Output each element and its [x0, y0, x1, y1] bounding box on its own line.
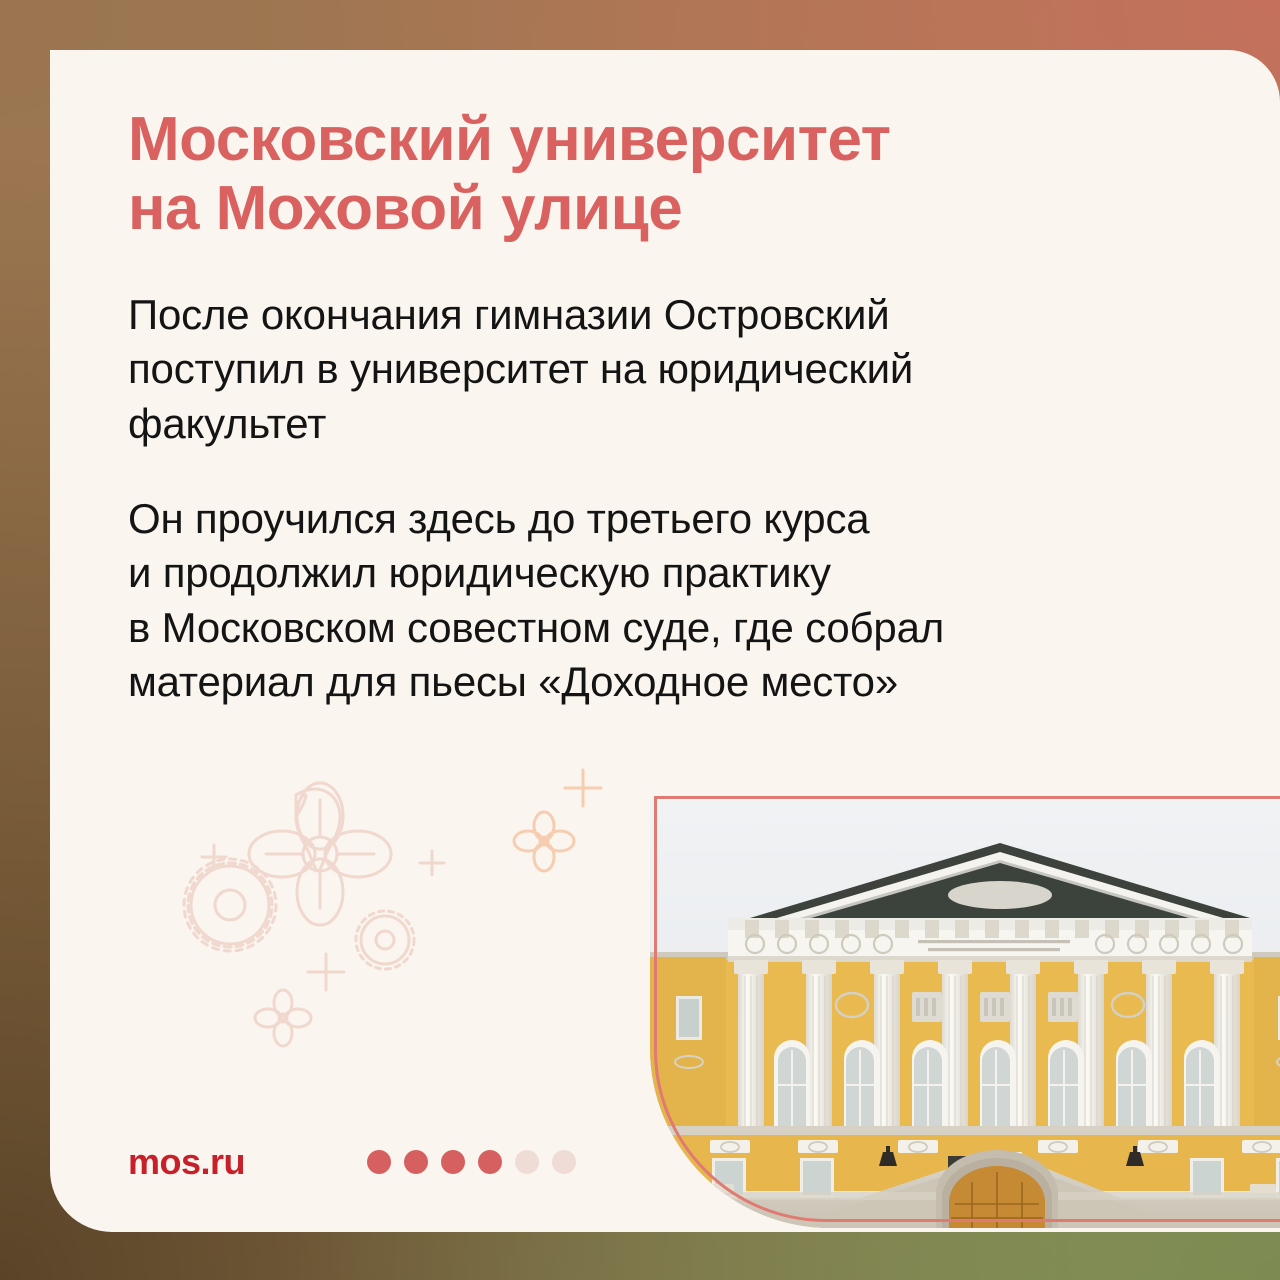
info-card: Московский университет на Моховой улице …	[50, 50, 1280, 1232]
gear-small-icon	[356, 911, 414, 969]
small-flower-2-icon	[514, 812, 574, 871]
large-flower-icon	[249, 783, 391, 925]
pagination-dot-2[interactable]	[404, 1150, 428, 1174]
small-flower-1-icon	[255, 990, 311, 1046]
paragraph-2: Он проучился здесь до третьего курса и п…	[128, 492, 1138, 710]
pagination-dot-5[interactable]	[515, 1150, 539, 1174]
card-footer: mos.ru	[128, 1132, 648, 1192]
cross-4-icon	[565, 770, 601, 806]
pagination-dot-6[interactable]	[552, 1150, 576, 1174]
pagination-dot-4[interactable]	[478, 1150, 502, 1174]
cross-2-icon	[420, 851, 444, 875]
cross-3-icon	[308, 954, 344, 990]
pagination-dot-3[interactable]	[441, 1150, 465, 1174]
gear-large-icon	[184, 859, 276, 951]
building-photo	[650, 800, 1280, 1228]
page-title: Московский университет на Моховой улице	[128, 105, 1138, 244]
pagination-dot-1[interactable]	[367, 1150, 391, 1174]
decorative-ornaments	[180, 765, 630, 1065]
cross-1-icon	[202, 845, 226, 869]
card-content: Московский университет на Моховой улице …	[128, 105, 1138, 710]
mos-ru-logo[interactable]: mos.ru	[128, 1141, 245, 1183]
paragraph-1: После окончания гимназии Островский пост…	[128, 288, 1138, 452]
pagination-dots	[367, 1150, 576, 1174]
